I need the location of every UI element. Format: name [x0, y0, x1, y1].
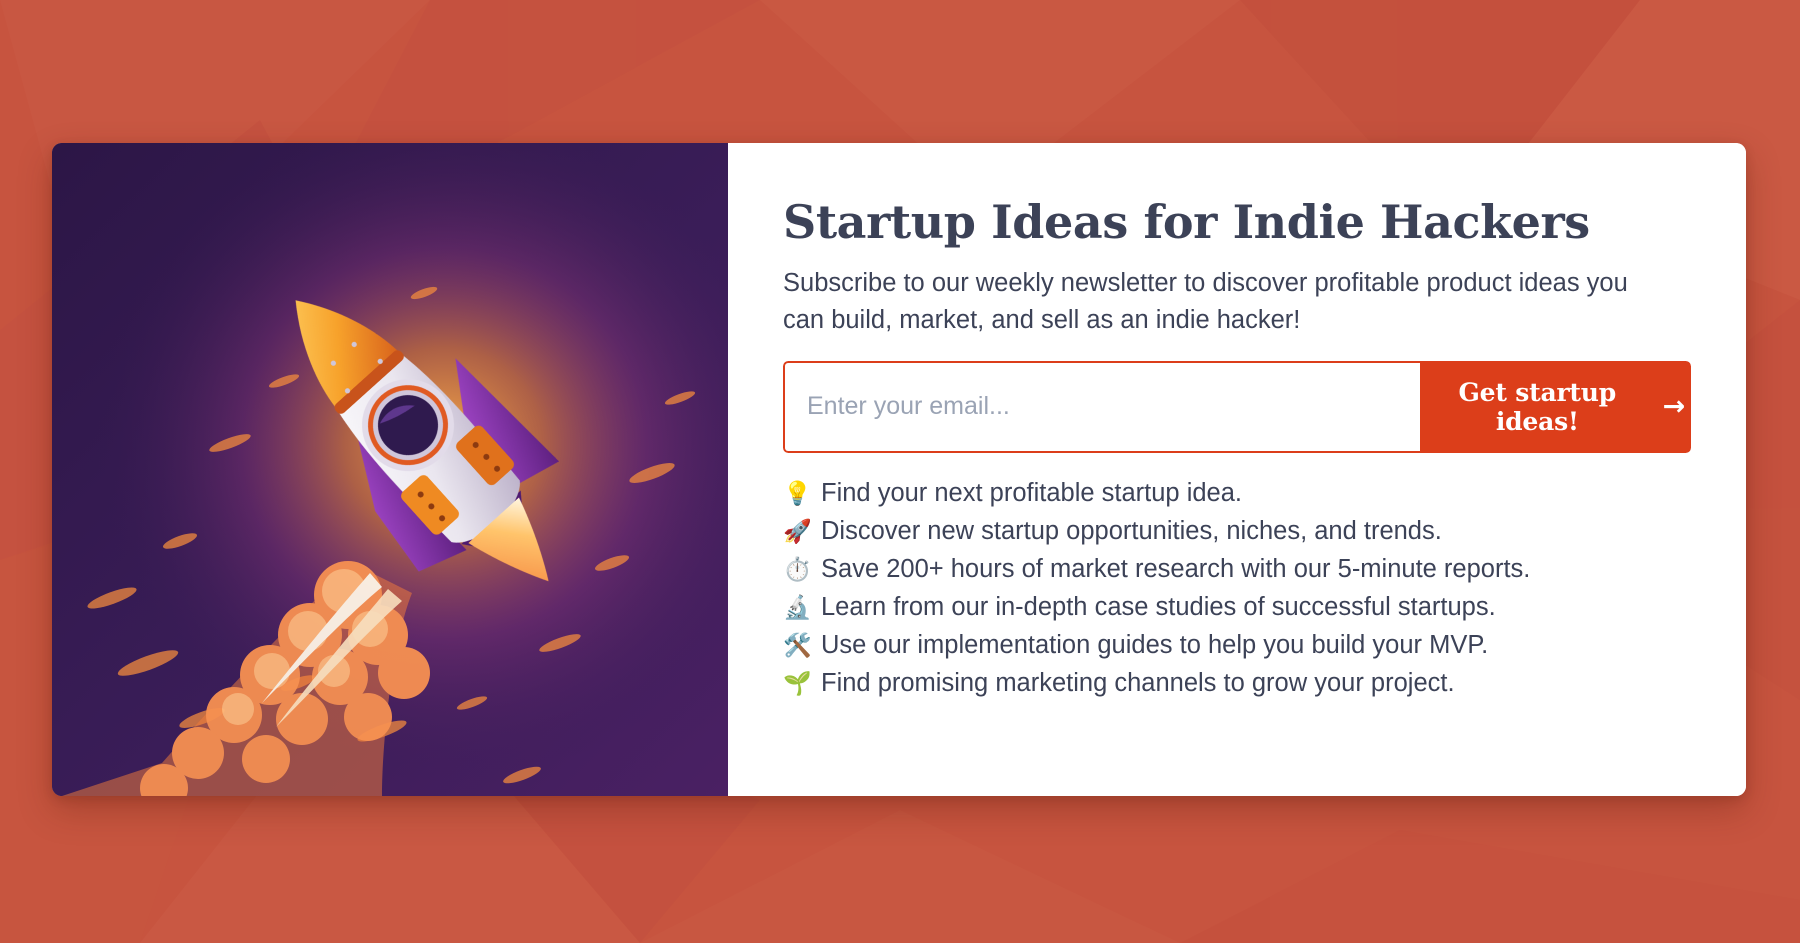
benefit-text: Discover new startup opportunities, nich… — [821, 513, 1442, 551]
newsletter-signup-form: Get startup ideas! → — [783, 361, 1691, 453]
list-item: 🔬 Learn from our in-depth case studies o… — [783, 589, 1691, 627]
email-input[interactable] — [783, 361, 1420, 453]
seedling-icon: 🌱 — [783, 667, 809, 701]
get-startup-ideas-button[interactable]: Get startup ideas! → — [1420, 361, 1691, 453]
lightbulb-icon: 💡 — [783, 477, 809, 511]
list-item: 💡 Find your next profitable startup idea… — [783, 475, 1691, 513]
benefits-list: 💡 Find your next profitable startup idea… — [783, 475, 1691, 703]
submit-button-label: Get startup ideas! — [1426, 378, 1649, 436]
rocket-icon: 🚀 — [783, 515, 809, 549]
benefit-text: Save 200+ hours of market research with … — [821, 551, 1530, 589]
newsletter-signup-card: Startup Ideas for Indie Hackers Subscrib… — [52, 143, 1746, 796]
benefit-text: Learn from our in-depth case studies of … — [821, 589, 1496, 627]
benefit-text: Find your next profitable startup idea. — [821, 475, 1242, 513]
arrow-right-icon: → — [1663, 393, 1685, 420]
list-item: ⏱️ Save 200+ hours of market research wi… — [783, 551, 1691, 589]
signup-content-panel: Startup Ideas for Indie Hackers Subscrib… — [728, 143, 1746, 796]
stopwatch-icon: ⏱️ — [783, 553, 809, 587]
subtitle-text: Subscribe to our weekly newsletter to di… — [783, 265, 1673, 339]
hammer-and-wrench-icon: 🛠️ — [783, 629, 809, 663]
benefit-text: Find promising marketing channels to gro… — [821, 665, 1455, 703]
list-item: 🚀 Discover new startup opportunities, ni… — [783, 513, 1691, 551]
list-item: 🛠️ Use our implementation guides to help… — [783, 627, 1691, 665]
illustration-panel — [52, 143, 728, 796]
page-title: Startup Ideas for Indie Hackers — [783, 198, 1691, 247]
rocket-launch-illustration — [52, 143, 728, 796]
benefit-text: Use our implementation guides to help yo… — [821, 627, 1488, 665]
list-item: 🌱 Find promising marketing channels to g… — [783, 665, 1691, 703]
microscope-icon: 🔬 — [783, 591, 809, 625]
